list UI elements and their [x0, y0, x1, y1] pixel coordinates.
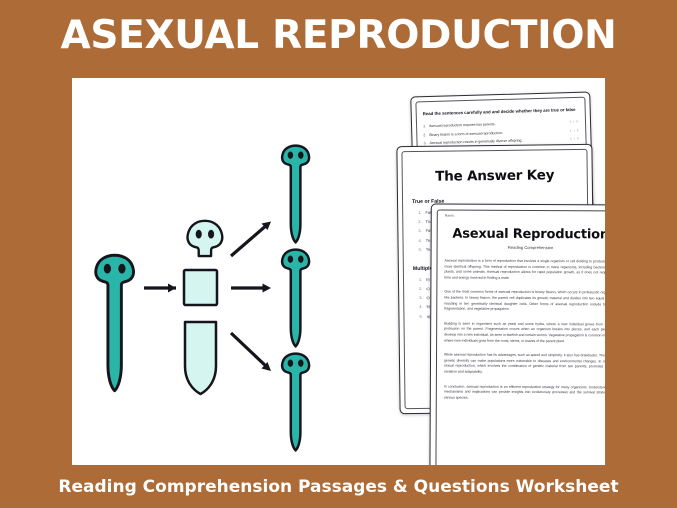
fragment-head	[188, 221, 223, 256]
arrow-to-offspring-lower	[231, 333, 271, 371]
list-item: 1. Asexual reproduction requires two par…	[423, 120, 579, 128]
true-false-heading: Read the sentences carefully and and dec…	[423, 107, 579, 117]
answer-number: 3.	[418, 228, 421, 233]
arrow-parent-to-fragments	[144, 284, 176, 293]
item-text: Binary fission is a form of asexual repr…	[429, 129, 570, 137]
answer-number: 3.	[419, 295, 422, 300]
true-false-options[interactable]: T / F	[570, 128, 580, 132]
answer-number: 4.	[418, 237, 421, 242]
passage-subtitle: Reading Comprehension	[432, 244, 605, 250]
asexual-reproduction-diagram	[72, 78, 352, 465]
parent-planarian	[96, 255, 134, 391]
answer-key-title: The Answer Key	[398, 167, 592, 185]
answer-number: 2.	[418, 219, 421, 224]
fragment-tail	[185, 322, 216, 394]
passage-paragraph: One of the most common forms of asexual …	[444, 290, 605, 313]
page-subtitle: Reading Comprehension Passages & Questio…	[0, 477, 677, 497]
answer-number: 1.	[419, 277, 422, 282]
passage-paragraph: Asexual reproduction is a form of reprod…	[444, 259, 605, 282]
name-date-row: Name: Date:	[445, 214, 605, 219]
offspring-planarian-3	[282, 354, 309, 451]
answer-number: 5.	[419, 313, 422, 318]
offspring-planarian-1	[282, 146, 309, 243]
fragment-middle	[184, 270, 217, 305]
true-false-options[interactable]: T / F	[570, 137, 580, 141]
diagram-svg	[72, 78, 352, 465]
passage-paragraph: In conclusion, asexual reproduction is a…	[444, 384, 605, 402]
passage-title: Asexual Reproduction	[432, 226, 605, 242]
passage-paragraph: While asexual reproduction has its advan…	[444, 353, 605, 376]
answer-number: 5.	[419, 247, 422, 252]
offspring-planarian-2	[282, 250, 309, 347]
page-title: ASEXUAL REPRODUCTION	[0, 8, 677, 64]
canvas-panel: Read the sentences carefully and and dec…	[72, 78, 605, 465]
answer-number: 1.	[418, 210, 421, 215]
list-item: 2. Binary fission is a form of asexual r…	[423, 128, 579, 136]
item-text: Asexual reproduction requires two parent…	[429, 120, 570, 128]
answer-number: 4.	[419, 304, 422, 309]
passage-paragraph: Budding is seen in organisms such as yea…	[444, 321, 605, 344]
answer-number: 2.	[419, 286, 422, 291]
worksheet-cover-image: ASEXUAL REPRODUCTION	[0, 0, 677, 508]
reading-passage-page[interactable]: Name: Date: Asexual Reproduction Reading…	[429, 203, 605, 465]
arrow-to-offspring-middle	[231, 284, 271, 293]
name-label: Name:	[445, 214, 455, 218]
arrow-to-offspring-upper	[231, 222, 271, 257]
true-false-options[interactable]: T / F	[569, 120, 579, 124]
